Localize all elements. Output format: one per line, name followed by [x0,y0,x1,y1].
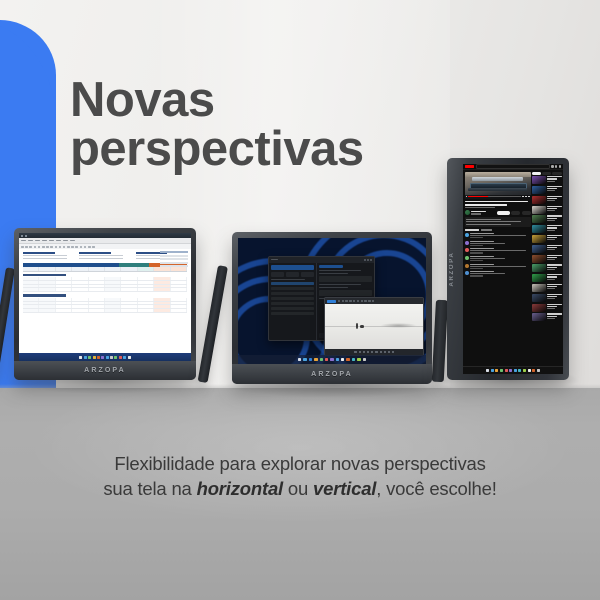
list-item[interactable] [271,307,314,310]
caption-mid: ou [283,478,313,499]
video-thumbnail[interactable] [532,225,546,233]
video-meta [547,294,562,302]
youtube-primary-column [463,170,532,366]
comment-item [465,271,531,276]
promo-banner: Novas perspectivas [0,0,600,600]
recommended-video-item[interactable] [532,235,562,243]
taskbar-app-icon-4[interactable] [320,358,323,361]
list-item[interactable] [271,282,314,285]
window-left-pane[interactable] [269,263,317,340]
channel-avatar[interactable] [465,210,470,215]
taskbar-app-icon-0[interactable] [298,358,301,361]
tab-recent[interactable] [552,172,561,175]
video-thumbnail[interactable] [532,245,546,253]
taskbar-app-icon-1[interactable] [303,358,306,361]
comment-avatar [465,256,469,260]
fullscreen-icon[interactable] [528,196,530,198]
video-thumbnail[interactable] [532,215,546,223]
video-meta [547,186,562,194]
taskbar-app-icon-1[interactable] [84,356,87,359]
tab-related[interactable] [542,172,551,175]
play-icon[interactable] [466,196,468,198]
recommended-video-item[interactable] [532,304,562,312]
video-thumbnail[interactable] [532,186,546,194]
taskbar-app-icon-2[interactable] [88,356,91,359]
recommended-video-item[interactable] [532,264,562,272]
recommended-video-item[interactable] [532,196,562,204]
monitor-center-horizontal[interactable]: ARZOPA [232,232,432,384]
video-meta [547,255,562,263]
taskbar-app-icon-6[interactable] [106,356,109,359]
taskbar-app-icon-10[interactable] [352,358,355,361]
monitor-left-horizontal[interactable]: ARZOPA [14,228,196,380]
tab-all[interactable] [532,172,541,175]
photo-app-badge [327,300,336,303]
taskbar-app-icon-4[interactable] [505,369,508,372]
channel-row [465,210,531,215]
list-item[interactable] [271,297,314,300]
taskbar-app-icon-11[interactable] [357,358,360,361]
recommended-video-item[interactable] [532,186,562,194]
comment-item [465,248,531,253]
caption-line-1: Flexibilidade para explorar novas perspe… [0,452,600,477]
search-input[interactable] [476,164,550,169]
video-thumbnail[interactable] [532,206,546,214]
youtube-sidebar[interactable] [532,170,563,366]
create-icon[interactable] [551,165,553,167]
recommended-video-item[interactable] [532,245,562,253]
recommended-video-item[interactable] [532,225,562,233]
recommended-video-list[interactable] [532,176,562,321]
recommended-video-item[interactable] [532,255,562,263]
taskbar-app-icon-7[interactable] [518,369,521,372]
video-title-line2 [465,204,507,206]
subscribe-button[interactable] [497,211,510,215]
video-meta [547,284,562,292]
notifications-icon[interactable] [555,165,557,167]
settings-icon[interactable] [525,196,527,198]
taskbar-app-icon-8[interactable] [341,358,344,361]
taskbar-app-icon-12[interactable] [363,358,366,361]
video-thumbnail[interactable] [532,264,546,272]
caption-emphasis-vertical: vertical [313,478,376,499]
video-thumbnail[interactable] [532,235,546,243]
recommended-video-item[interactable] [532,294,562,302]
taskbar-app-icon-7[interactable] [110,356,113,359]
taskbar-app-icon-5[interactable] [101,356,104,359]
taskbar-app-icon-0[interactable] [79,356,82,359]
caption-emphasis-horizontal: horizontal [197,478,283,499]
taskbar-app-icon-3[interactable] [500,369,503,372]
video-meta [547,313,562,321]
brand-logo-center: ARZOPA [311,371,353,378]
video-meta [547,245,562,253]
comment-item [465,264,531,269]
table-group-label [23,274,66,276]
like-button[interactable] [511,211,520,215]
screen-left[interactable] [19,233,191,361]
page-title: Novas perspectivas [70,76,490,173]
recommended-video-item[interactable] [532,176,562,184]
taskbar-app-icon-10[interactable] [532,369,535,372]
chin-center: ARZOPA [232,364,432,384]
video-meta [547,196,562,204]
comment-avatar [465,241,469,245]
video-thumbnail[interactable] [532,255,546,263]
recommended-video-item[interactable] [532,215,562,223]
video-meta [547,176,562,184]
list-item[interactable] [271,302,314,305]
video-thumbnail[interactable] [532,294,546,302]
taskbar-app-icon-7[interactable] [336,358,339,361]
youtube-page[interactable] [463,164,563,374]
brand-logo-left: ARZOPA [84,367,126,374]
taskbar-app-icon-8[interactable] [523,369,526,372]
comment-avatar [465,248,469,252]
windows-desktop[interactable] [238,238,426,364]
comment-item [465,241,531,246]
taskbar-app-icon-11[interactable] [537,369,540,372]
caption-post: , você escolhe! [376,478,496,499]
progress-bar[interactable] [468,196,521,197]
video-thumbnail[interactable] [532,313,546,321]
taskbar-app-icon-4[interactable] [97,356,100,359]
caption-pre: sua tela na [103,478,196,499]
video-meta [547,264,562,272]
taskbar-app-icon-2[interactable] [495,369,498,372]
comment-item [465,256,531,261]
spreadsheet-app[interactable] [19,233,191,361]
taskbar-center-screen[interactable] [238,355,426,364]
taskbar-app-icon-1[interactable] [491,369,494,372]
taskbar-right-screen[interactable] [463,366,563,374]
brand-logo-right: ARZOPA [449,251,455,286]
taskbar-app-icon-8[interactable] [114,356,117,359]
taskbar-app-icon-10[interactable] [123,356,126,359]
comments-header [465,229,531,231]
table-row [23,288,187,292]
comment-avatar [465,271,469,275]
recommended-video-item[interactable] [532,274,562,282]
screen-right[interactable] [463,164,563,374]
taskbar-app-icon-9[interactable] [119,356,122,359]
comment-avatar [465,264,469,268]
chin-left: ARZOPA [14,361,196,380]
comment-avatar [465,233,469,237]
video-thumbnail[interactable] [532,284,546,292]
video-meta [547,235,562,243]
video-title [465,201,528,203]
taskbar-app-icon-5[interactable] [509,369,512,372]
volume-icon[interactable] [522,196,524,198]
taskbar-app-icon-3[interactable] [93,356,96,359]
video-meta [547,225,562,233]
taskbar-app-icon-3[interactable] [314,358,317,361]
taskbar-app-icon-9[interactable] [346,358,349,361]
video-description[interactable] [465,217,531,227]
avatar[interactable] [559,165,561,167]
caption-line-2: sua tela na horizontal ou vertical, você… [0,477,600,502]
monitor-right-vertical[interactable]: ARZOPA [447,158,569,380]
video-meta [547,274,562,282]
taskbar-app-icon-0[interactable] [486,369,489,372]
video-thumbnail[interactable] [532,304,546,312]
video-thumbnail[interactable] [532,274,546,282]
table-row [23,309,187,313]
photo-image [325,304,423,349]
player-controls[interactable] [465,195,531,199]
recommended-video-item[interactable] [532,284,562,292]
recommended-video-item[interactable] [532,206,562,214]
taskbar-app-icon-6[interactable] [514,369,517,372]
report-side-panel [160,251,188,269]
list-item[interactable] [271,287,314,290]
screen-center[interactable] [238,238,426,364]
video-thumbnail[interactable] [532,176,546,184]
video-thumbnail[interactable] [532,196,546,204]
caption: Flexibilidade para explorar novas perspe… [0,452,600,501]
video-view-count [465,207,495,208]
list-item[interactable] [271,292,314,295]
list-item[interactable] [271,312,314,315]
video-meta [547,206,562,214]
sidebar-filter-tabs[interactable] [532,172,562,175]
youtube-logo-icon[interactable] [465,165,474,168]
photo-viewer-window[interactable] [324,297,424,356]
video-meta [547,304,562,312]
taskbar-app-icon-5[interactable] [325,358,328,361]
table-group-label [23,294,66,296]
taskbar-app-icon-11[interactable] [128,356,131,359]
taskbar-left-screen[interactable] [19,353,191,361]
video-player[interactable] [465,172,531,199]
share-button[interactable] [522,211,531,215]
recommended-video-item[interactable] [532,313,562,321]
taskbar-app-icon-6[interactable] [330,358,333,361]
taskbar-app-icon-2[interactable] [309,358,312,361]
taskbar-app-icon-9[interactable] [528,369,531,372]
video-meta [547,215,562,223]
photo-toolbar[interactable] [325,349,423,355]
comment-item [465,233,531,238]
